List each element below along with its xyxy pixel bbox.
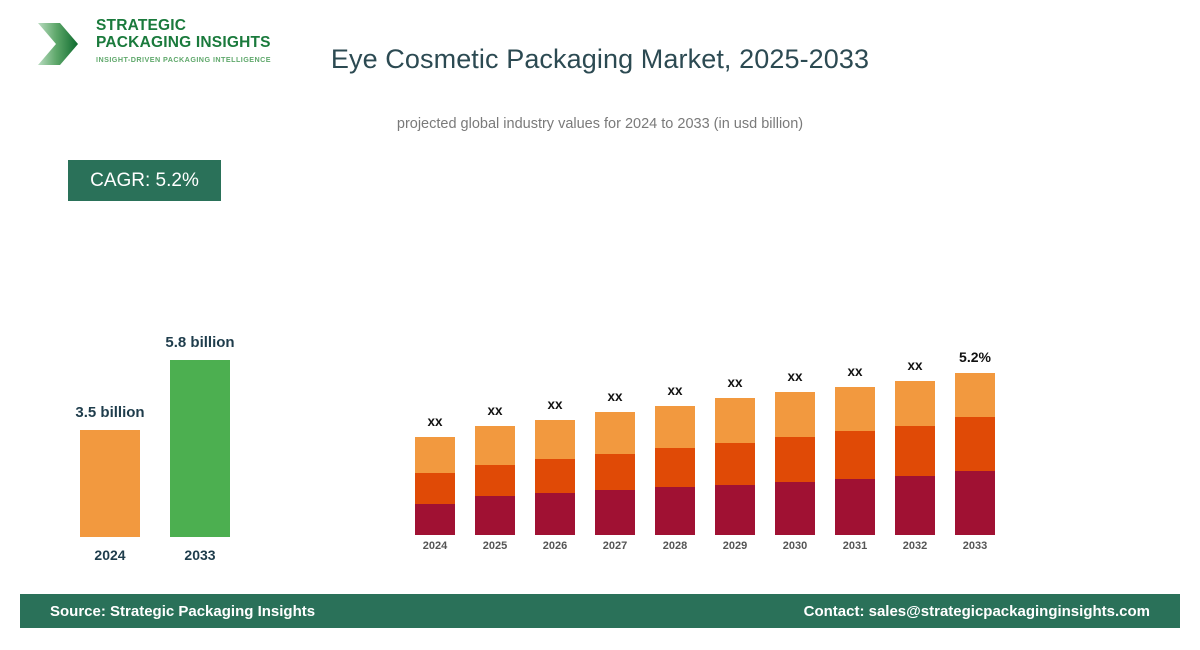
footer-contact: Contact: sales@strategicpackaginginsight… bbox=[804, 603, 1150, 620]
stacked-bar-year-label: 2025 bbox=[465, 540, 525, 552]
stacked-bar-segment-segment-middle bbox=[535, 459, 575, 493]
footer-source: Source: Strategic Packaging Insights bbox=[50, 603, 315, 620]
stacked-bar-value-label: xx bbox=[525, 397, 585, 412]
stacked-bar-segment-segment-bottom bbox=[415, 504, 455, 535]
stacked-bar-segment-segment-top bbox=[595, 412, 635, 454]
stacked-bar bbox=[895, 381, 935, 535]
stacked-bar bbox=[475, 426, 515, 535]
stacked-bar-year-label: 2026 bbox=[525, 540, 585, 552]
stacked-bar bbox=[835, 387, 875, 535]
stacked-bar-segment-segment-top bbox=[955, 373, 995, 418]
stacked-bar-segment-segment-top bbox=[415, 437, 455, 473]
stacked-bar-segment-segment-bottom bbox=[535, 493, 575, 535]
stacked-bar-segment-segment-bottom bbox=[475, 496, 515, 535]
stacked-bar-segment-segment-middle bbox=[895, 426, 935, 476]
comparison-bar-value-label: 3.5 billion bbox=[50, 404, 170, 421]
comparison-bar bbox=[80, 430, 140, 537]
stacked-bar-value-label: xx bbox=[645, 383, 705, 398]
comparison-bar-chart: 3.5 billion20245.8 billion2033 bbox=[0, 0, 330, 650]
stacked-bar-segment-segment-top bbox=[715, 398, 755, 443]
stacked-bar bbox=[415, 437, 455, 535]
stacked-bar-value-label: xx bbox=[885, 358, 945, 373]
comparison-bar-value-label: 5.8 billion bbox=[140, 334, 260, 351]
stacked-bar-segment-segment-middle bbox=[955, 417, 995, 470]
stacked-bar-segment-segment-middle bbox=[835, 431, 875, 479]
stacked-bar-year-label: 2032 bbox=[885, 540, 945, 552]
infographic-canvas: STRATEGIC PACKAGING INSIGHTS INSIGHT-DRI… bbox=[0, 0, 1200, 650]
stacked-bar-chart: xx2024xx2025xx2026xx2027xx2028xx2029xx20… bbox=[395, 0, 1025, 650]
stacked-bar-segment-segment-top bbox=[535, 420, 575, 459]
comparison-bar bbox=[170, 360, 230, 537]
stacked-bar bbox=[775, 392, 815, 535]
stacked-bar bbox=[595, 412, 635, 535]
stacked-bar-segment-segment-middle bbox=[715, 443, 755, 485]
stacked-bar-segment-segment-middle bbox=[475, 465, 515, 496]
stacked-bar-segment-segment-top bbox=[835, 387, 875, 432]
stacked-bar bbox=[715, 398, 755, 535]
stacked-bar-value-label: xx bbox=[825, 364, 885, 379]
stacked-bar-segment-segment-top bbox=[475, 426, 515, 465]
stacked-bar-value-label: xx bbox=[765, 369, 825, 384]
stacked-bar bbox=[655, 406, 695, 535]
stacked-bar-year-label: 2028 bbox=[645, 540, 705, 552]
stacked-bar-value-label: xx bbox=[705, 375, 765, 390]
stacked-bar-segment-segment-bottom bbox=[895, 476, 935, 535]
stacked-bar-value-label: xx bbox=[465, 403, 525, 418]
stacked-bar-year-label: 2030 bbox=[765, 540, 825, 552]
stacked-bar-year-label: 2027 bbox=[585, 540, 645, 552]
stacked-bar bbox=[955, 373, 995, 535]
stacked-bar-segment-segment-bottom bbox=[655, 487, 695, 535]
stacked-bar-year-label: 2031 bbox=[825, 540, 885, 552]
stacked-bar-year-label: 2033 bbox=[945, 540, 1005, 552]
stacked-bar-segment-segment-top bbox=[775, 392, 815, 437]
stacked-bar-year-label: 2024 bbox=[405, 540, 465, 552]
stacked-bar-value-label: xx bbox=[585, 389, 645, 404]
stacked-bar-segment-segment-middle bbox=[775, 437, 815, 482]
stacked-bar-segment-segment-bottom bbox=[715, 485, 755, 535]
stacked-bar-year-label: 2029 bbox=[705, 540, 765, 552]
stacked-bar-segment-segment-middle bbox=[415, 473, 455, 504]
stacked-bar-value-label: xx bbox=[405, 414, 465, 429]
footer-bar: Source: Strategic Packaging Insights Con… bbox=[20, 594, 1180, 628]
stacked-bar-segment-segment-bottom bbox=[595, 490, 635, 535]
stacked-bar-segment-segment-bottom bbox=[835, 479, 875, 535]
stacked-bar-segment-segment-top bbox=[895, 381, 935, 426]
stacked-bar-segment-segment-top bbox=[655, 406, 695, 448]
comparison-bar-year-label: 2033 bbox=[150, 547, 250, 563]
stacked-bar-segment-segment-bottom bbox=[775, 482, 815, 535]
stacked-bar-value-label: 5.2% bbox=[945, 349, 1005, 365]
stacked-bar-segment-segment-middle bbox=[595, 454, 635, 490]
comparison-bar-year-label: 2024 bbox=[60, 547, 160, 563]
stacked-bar-segment-segment-middle bbox=[655, 448, 695, 487]
stacked-bar bbox=[535, 420, 575, 535]
stacked-bar-segment-segment-bottom bbox=[955, 471, 995, 535]
